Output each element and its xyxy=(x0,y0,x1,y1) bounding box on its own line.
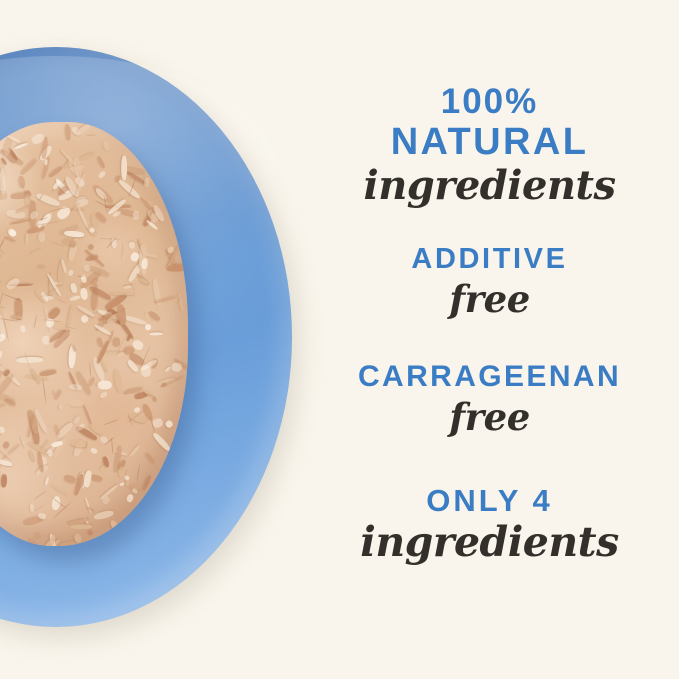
claim-additive-cap: ADDITIVE xyxy=(300,245,679,275)
claim-natural-cap-2: NATURAL xyxy=(300,123,679,162)
claim-natural: 100% NATURAL ingredients xyxy=(300,84,679,206)
claim-natural-script: ingredients xyxy=(300,166,679,206)
claim-only-4-ingredients: ONLY 4 ingredients xyxy=(300,485,679,563)
claim-carrageenan-cap: CARRAGEENAN xyxy=(300,362,679,393)
claim-additive-free: ADDITIVE free xyxy=(300,245,679,318)
product-claims-banner: 100% NATURAL ingredients ADDITIVE free C… xyxy=(0,0,679,679)
food-body xyxy=(0,122,188,546)
food-mound xyxy=(0,122,198,562)
claim-only4-cap: ONLY 4 xyxy=(300,485,679,517)
food-flakes xyxy=(0,122,188,546)
claim-natural-cap-1: 100% xyxy=(300,84,679,120)
claim-only4-script: ingredients xyxy=(300,522,679,563)
claims-column: 100% NATURAL ingredients ADDITIVE free C… xyxy=(300,0,679,679)
claim-additive-script: free xyxy=(300,281,679,318)
claim-carrageenan-script: free xyxy=(300,399,679,436)
claim-carrageenan-free: CARRAGEENAN free xyxy=(300,362,679,436)
